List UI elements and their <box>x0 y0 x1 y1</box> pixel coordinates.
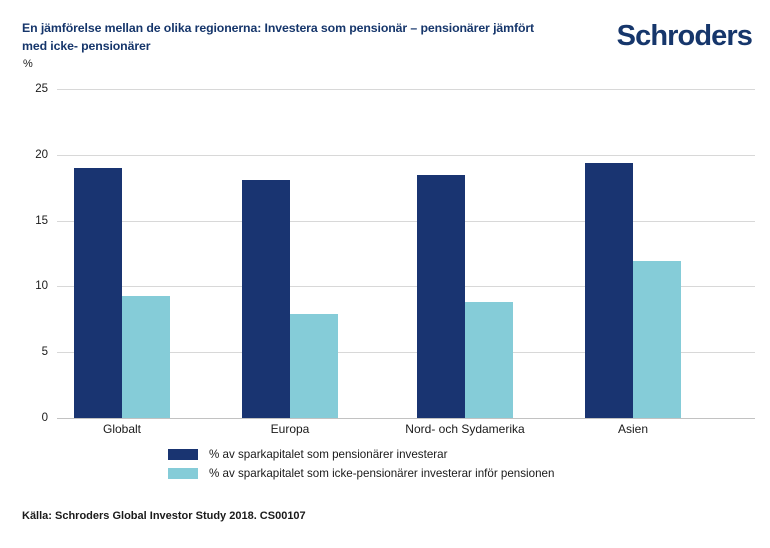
legend-item-primary[interactable]: % av sparkapitalet som pensionärer inves… <box>168 446 554 463</box>
x-axis-tick-label: Europa <box>271 422 310 436</box>
page-title: En jämförelse mellan de olika regionerna… <box>22 19 552 55</box>
bar-secondary[interactable] <box>465 302 513 418</box>
y-axis-tick-label: 0 <box>42 412 48 424</box>
legend-swatch-secondary <box>168 468 198 479</box>
y-axis-tick-label: 15 <box>35 215 48 227</box>
y-axis-tick-label: 10 <box>35 280 48 292</box>
plot-area: 0510152025 GlobaltEuropaNord- och Sydame… <box>57 89 755 418</box>
bar-secondary[interactable] <box>633 261 681 418</box>
gridline: 0 <box>57 418 755 419</box>
y-axis-tick-label: 20 <box>35 149 48 161</box>
x-axis-tick-label: Asien <box>618 422 648 436</box>
bar-primary[interactable] <box>74 168 122 418</box>
bar-secondary[interactable] <box>122 296 170 418</box>
bar-group <box>417 89 513 418</box>
bars-layer <box>57 89 755 418</box>
y-axis-tick-label: 5 <box>42 346 48 358</box>
bar-group <box>242 89 338 418</box>
bar-group <box>74 89 170 418</box>
legend-swatch-primary <box>168 449 198 460</box>
bar-secondary[interactable] <box>290 314 338 418</box>
y-axis-tick-label: 25 <box>35 83 48 95</box>
schroders-logo: Schroders <box>617 20 752 52</box>
bar-primary[interactable] <box>417 175 465 418</box>
chart-header: En jämförelse mellan de olika regionerna… <box>0 0 770 58</box>
chart-legend: % av sparkapitalet som pensionärer inves… <box>168 446 554 484</box>
legend-item-secondary[interactable]: % av sparkapitalet som icke-pensionärer … <box>168 465 554 482</box>
bar-primary[interactable] <box>585 163 633 418</box>
bar-primary[interactable] <box>242 180 290 418</box>
source-note: Källa: Schroders Global Investor Study 2… <box>22 510 306 522</box>
y-axis-unit-label: % <box>23 58 33 70</box>
x-axis-tick-label: Globalt <box>103 422 141 436</box>
x-axis-tick-label: Nord- och Sydamerika <box>405 422 524 436</box>
bar-group <box>585 89 681 418</box>
legend-label-primary: % av sparkapitalet som pensionärer inves… <box>209 448 447 461</box>
legend-label-secondary: % av sparkapitalet som icke-pensionärer … <box>209 467 554 480</box>
